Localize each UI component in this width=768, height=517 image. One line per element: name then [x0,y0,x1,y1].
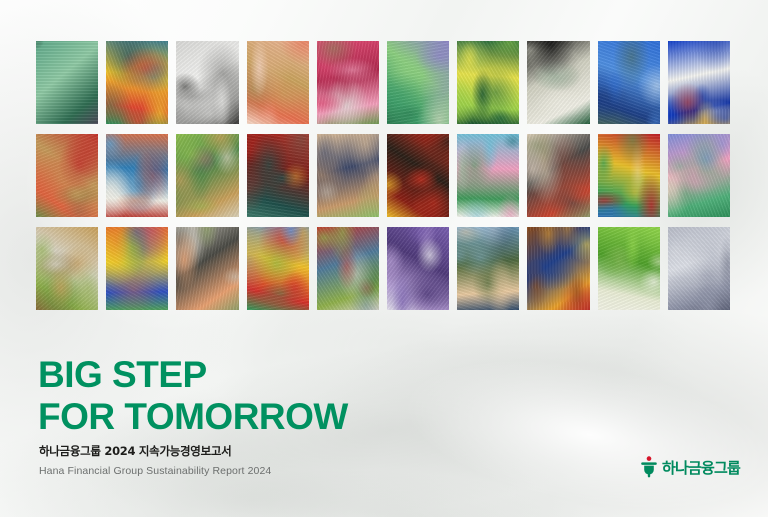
artwork-tile [36,134,98,217]
subtitle-korean: 하나금융그룹 2024 지속가능경영보고서 [39,443,231,459]
artwork-tile [668,41,730,124]
artwork-tile [527,41,589,124]
artwork-texture [176,227,238,310]
artwork-tile [317,134,379,217]
artwork-texture [387,134,449,217]
artwork-tile [317,227,379,310]
artwork-tile [247,134,309,217]
artwork-texture [247,227,309,310]
fabric-fold-decoration [316,286,768,517]
artwork-texture [668,41,730,124]
artwork-tile [527,227,589,310]
artwork-tile [176,41,238,124]
artwork-texture [106,41,168,124]
artwork-tile [668,134,730,217]
artwork-texture [106,227,168,310]
artwork-texture [106,134,168,217]
artwork-tile [176,134,238,217]
artwork-texture [668,227,730,310]
headline-line-1: BIG STEP [38,356,348,393]
artwork-texture [457,134,519,217]
artwork-texture [317,134,379,217]
artwork-texture [36,227,98,310]
artwork-texture [598,227,660,310]
artwork-tile [387,134,449,217]
artwork-tile [387,227,449,310]
artwork-tile [598,227,660,310]
artwork-texture [527,134,589,217]
artwork-texture [36,134,98,217]
hana-logo-mark-icon [640,456,658,478]
artwork-texture [317,41,379,124]
artwork-texture [598,134,660,217]
artwork-texture [598,41,660,124]
artwork-tile [247,41,309,124]
artwork-tile [598,134,660,217]
artwork-texture [176,134,238,217]
artwork-texture [668,134,730,217]
brand-logo: 하나금융그룹 [640,456,740,478]
artwork-tile [457,134,519,217]
artwork-tile [106,227,168,310]
report-cover-page: BIG STEP FOR TOMORROW 하나금융그룹 2024 지속가능경영… [0,0,768,517]
artwork-texture [457,41,519,124]
artwork-tile [176,227,238,310]
artwork-tile [457,227,519,310]
artwork-texture [176,41,238,124]
artwork-texture [527,41,589,124]
artwork-texture [247,134,309,217]
artwork-tile [106,41,168,124]
artwork-texture [36,41,98,124]
artwork-tile [527,134,589,217]
artwork-tile [668,227,730,310]
brand-wordmark: 하나금융그룹 [662,457,740,478]
artwork-tile [36,41,98,124]
artwork-texture [247,41,309,124]
artwork-tile [457,41,519,124]
artwork-tile [317,41,379,124]
artwork-texture [527,227,589,310]
artwork-tile [387,41,449,124]
page-title: BIG STEP FOR TOMORROW [38,356,348,435]
artwork-grid [36,41,730,310]
artwork-tile [36,227,98,310]
artwork-texture [387,227,449,310]
artwork-tile [598,41,660,124]
headline-line-2: FOR TOMORROW [38,398,348,435]
artwork-tile [106,134,168,217]
subtitle-english: Hana Financial Group Sustainability Repo… [39,465,271,477]
artwork-texture [457,227,519,310]
artwork-texture [317,227,379,310]
artwork-texture [387,41,449,124]
artwork-tile [247,227,309,310]
